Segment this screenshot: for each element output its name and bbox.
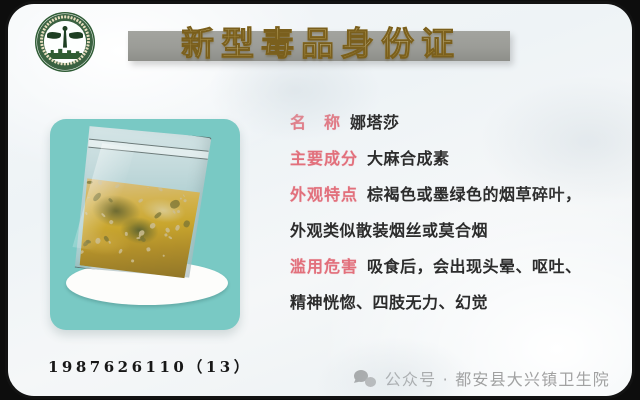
substance-flake <box>154 212 162 220</box>
info-row-value: 棕褐色或墨绿色的烟草碎叶， <box>367 181 582 205</box>
substance-crumb <box>179 197 182 200</box>
serial-number: 1987626110（13） <box>48 356 252 377</box>
info-row: 精神恍惚、四肢无力、幻觉 <box>290 283 632 319</box>
substance-flake <box>86 181 92 184</box>
substance-crumb <box>118 249 123 255</box>
wechat-icon <box>354 369 376 387</box>
substance-crumb <box>163 255 166 258</box>
badge-ring-tick <box>40 41 43 43</box>
substance-crumb <box>146 247 151 252</box>
substance-crumb <box>183 198 187 202</box>
info-row: 外观类似散装烟丝或莫合烟 <box>290 211 632 247</box>
watermark-text: 公众号 · 都安县大兴镇卫生院 <box>385 366 610 390</box>
badge-ring-tick <box>86 44 89 46</box>
substance-flake <box>168 198 180 210</box>
substance-flake <box>182 219 190 228</box>
substance-crumb <box>97 179 102 185</box>
badge-ring-tick <box>84 50 88 53</box>
substance-crumb <box>165 227 170 233</box>
badge-ring-tick <box>87 41 90 43</box>
poster-root: 新型毒品身份证 名 称娜塔莎主要成分大麻合成素外观特点棕褐色或墨绿色的烟草碎叶，… <box>0 0 640 400</box>
ziplock-bag <box>67 120 212 284</box>
badge-ring-tick <box>61 16 63 19</box>
substance-crumb <box>130 260 134 263</box>
info-row-value: 吸食后，会出现头晕、呕吐、 <box>367 253 582 277</box>
substance-flake <box>92 191 102 202</box>
badge-ring-tick <box>87 38 90 40</box>
substance-crumb <box>95 237 101 244</box>
eagle-body <box>63 28 67 48</box>
substance-crumb <box>85 212 88 216</box>
substance-crumb <box>108 241 111 245</box>
info-row-value: 娜塔莎 <box>350 109 400 133</box>
substance-crumb <box>87 197 90 199</box>
eagle-wing-right <box>69 30 83 39</box>
badge-ring-tick <box>40 35 43 37</box>
substance-crumb <box>125 232 128 236</box>
wechat-bubble-small <box>365 377 376 387</box>
info-field-list: 名 称娜塔莎主要成分大麻合成素外观特点棕褐色或墨绿色的烟草碎叶，外观类似散装烟丝… <box>290 103 632 319</box>
info-row: 外观特点棕褐色或墨绿色的烟草碎叶， <box>290 175 632 211</box>
eagle-head <box>63 26 68 31</box>
substance-crumb <box>147 187 149 188</box>
badge-ring-tick <box>85 31 89 34</box>
watermark: 公众号 · 都安县大兴镇卫生院 <box>354 366 610 390</box>
info-row-label: 主要成分 <box>290 145 358 169</box>
page-title: 新型毒品身份证 <box>136 18 506 64</box>
drug-sample-photo <box>50 119 240 330</box>
anti-drug-commission-emblem-icon <box>35 12 95 72</box>
substance-crumb <box>108 219 114 225</box>
badge-ring-tick <box>51 19 54 23</box>
substance-crumb <box>183 194 186 197</box>
badge-ring-tick <box>54 17 57 21</box>
eagle-emblem-icon <box>47 28 83 50</box>
info-row-label: 滥用危害 <box>290 253 358 277</box>
info-row-value: 外观类似散装烟丝或莫合烟 <box>290 217 488 241</box>
substance-crumb <box>177 210 181 214</box>
info-row-value: 大麻合成素 <box>367 145 450 169</box>
substance-crumb <box>138 197 144 202</box>
info-card: 新型毒品身份证 名 称娜塔莎主要成分大麻合成素外观特点棕褐色或墨绿色的烟草碎叶，… <box>8 4 632 396</box>
substance-crumb <box>171 210 175 214</box>
info-row-value: 精神恍惚、四肢无力、幻觉 <box>290 289 488 313</box>
substance-crumb <box>149 222 157 230</box>
badge-ring-tick <box>41 31 45 34</box>
info-row: 滥用危害吸食后，会出现头晕、呕吐、 <box>290 247 632 283</box>
eagle-wing-left <box>47 30 61 39</box>
bag-contents-substance <box>74 177 201 281</box>
badge-inner-field <box>44 21 86 63</box>
substance-crumb <box>115 184 121 189</box>
badge-ring-tick <box>86 35 89 37</box>
badge-ring-tick <box>64 15 66 18</box>
info-row-label: 外观特点 <box>290 181 358 205</box>
substance-crumb <box>169 236 173 239</box>
substance-crumb <box>174 224 180 231</box>
substance-flake <box>108 198 114 204</box>
skyline-graphic <box>48 48 82 59</box>
badge-ring-tick <box>40 38 43 40</box>
substance-crumb <box>100 212 105 217</box>
badge-ring-tick <box>67 16 69 19</box>
info-row: 主要成分大麻合成素 <box>290 139 632 175</box>
badge-ring-tick <box>85 47 89 50</box>
badge-ring-tick <box>57 16 59 19</box>
badge-ring-tick <box>42 28 46 31</box>
wechat-bubble-tail <box>354 377 360 384</box>
info-row: 名 称娜塔莎 <box>290 103 632 139</box>
info-row-label: 名 称 <box>290 109 341 133</box>
